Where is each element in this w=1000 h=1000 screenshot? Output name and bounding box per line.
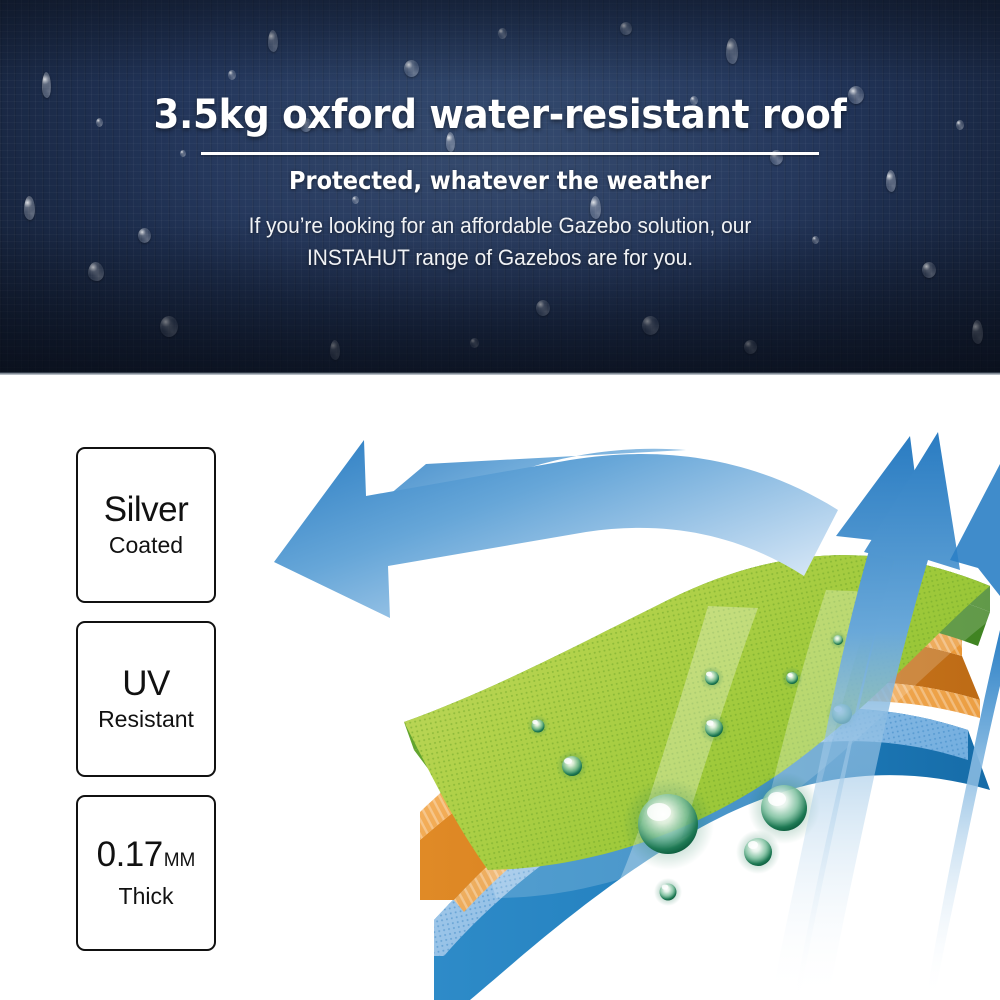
badge-title-text: UV — [122, 665, 170, 703]
hero-bottom-divider — [0, 372, 1000, 375]
feature-badge-list: Silver Coated UV Resistant 0.17MM Thick — [76, 447, 216, 969]
hero-banner: 3.5kg oxford water-resistant roof Protec… — [0, 0, 1000, 375]
badge-title-text: Silver — [104, 491, 189, 529]
hero-body-line-1: If you’re looking for an affordable Gaze… — [196, 210, 804, 242]
badge-subtitle: Resistant — [98, 705, 194, 733]
hero-subheadline: Protected, whatever the weather — [50, 166, 950, 195]
badge-title: Silver — [104, 491, 189, 529]
headline-divider — [201, 152, 819, 155]
hero-content: 3.5kg oxford water-resistant roof Protec… — [0, 0, 1000, 375]
badge-uv-resistant: UV Resistant — [76, 621, 216, 777]
badge-title-text: 0.17 — [97, 836, 163, 874]
badge-thickness: 0.17MM Thick — [76, 795, 216, 951]
hero-headline: 3.5kg oxford water-resistant roof — [35, 92, 965, 138]
badge-subtitle: Coated — [109, 531, 183, 559]
badge-title: UV — [122, 665, 170, 703]
hero-body-copy: If you’re looking for an affordable Gaze… — [196, 210, 804, 274]
badge-silver-coated: Silver Coated — [76, 447, 216, 603]
hero-body-line-2: INSTAHUT range of Gazebos are for you. — [196, 242, 804, 274]
badge-unit-text: MM — [164, 842, 196, 880]
product-feature-page: 3.5kg oxford water-resistant roof Protec… — [0, 0, 1000, 1000]
badge-title: 0.17MM — [97, 836, 196, 880]
badge-subtitle: Thick — [119, 882, 174, 910]
three-layer-fabric-illustration — [238, 400, 1000, 1000]
